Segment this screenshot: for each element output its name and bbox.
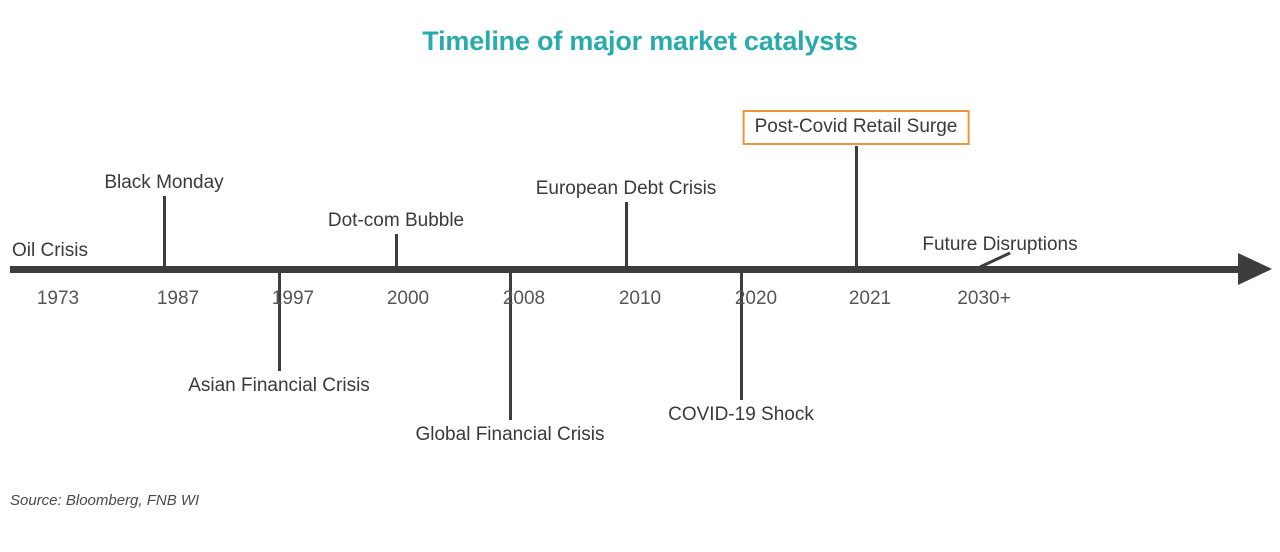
timeline-year-label-2000: 2000 xyxy=(387,288,429,310)
timeline-axis-arrow-icon xyxy=(1238,253,1272,285)
timeline-year-label-1987: 1987 xyxy=(157,288,199,310)
timeline-event-label-covid-19-shock[interactable]: COVID-19 Shock xyxy=(668,404,814,426)
timeline-event-label-european-debt-crisis[interactable]: European Debt Crisis xyxy=(536,178,717,200)
timeline-tick-european-debt-crisis xyxy=(625,202,628,273)
timeline-event-label-post-covid-retail-surge[interactable]: Post-Covid Retail Surge xyxy=(743,110,970,145)
timeline-year-label-2030plus: 2030+ xyxy=(957,288,1010,310)
timeline-year-label-1997: 1997 xyxy=(272,288,314,310)
timeline-tick-covid-19-shock xyxy=(740,266,743,400)
timeline-tick-dot-com-bubble xyxy=(395,234,398,273)
timeline-year-label-2010: 2010 xyxy=(619,288,661,310)
timeline-event-label-future-disruptions[interactable]: Future Disruptions xyxy=(922,234,1077,256)
timeline-year-label-2020: 2020 xyxy=(735,288,777,310)
timeline-year-label-1973: 1973 xyxy=(37,288,79,310)
timeline-event-label-asian-financial-crisis[interactable]: Asian Financial Crisis xyxy=(188,375,370,397)
timeline-event-label-oil-crisis[interactable]: Oil Crisis xyxy=(12,240,88,262)
page-title: Timeline of major market catalysts xyxy=(0,26,1280,57)
timeline-event-label-global-financial-crisis[interactable]: Global Financial Crisis xyxy=(415,424,604,446)
timeline-year-label-2021: 2021 xyxy=(849,288,891,310)
timeline-tick-post-covid-retail-surge xyxy=(855,146,858,273)
timeline-year-label-2008: 2008 xyxy=(503,288,545,310)
timeline-event-label-dot-com-bubble[interactable]: Dot-com Bubble xyxy=(328,210,464,232)
timeline-event-label-black-monday[interactable]: Black Monday xyxy=(104,172,223,194)
timeline-chart: Timeline of major market catalysts Oil C… xyxy=(0,0,1280,552)
source-note: Source: Bloomberg, FNB WI xyxy=(10,492,199,509)
timeline-tick-black-monday xyxy=(163,196,166,273)
timeline-tick-asian-financial-crisis xyxy=(278,266,281,371)
